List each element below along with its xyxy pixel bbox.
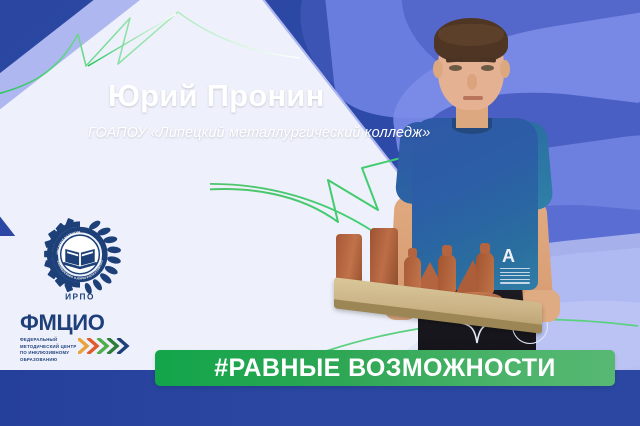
right-eye xyxy=(481,65,494,71)
clay-jug xyxy=(476,252,494,294)
fmcio-logo: ФМЦИО ФЕДЕРАЛЬНЫЙ МЕТОДИЧЕСКИЙ ЦЕНТР ПО … xyxy=(20,312,136,356)
hashtag-banner-text: #РАВНЫЕ ВОЗМОЖНОСТИ xyxy=(214,354,556,383)
hair-fringe xyxy=(438,24,504,46)
fmcio-chevrons-icon xyxy=(78,338,132,354)
clay-jug xyxy=(438,254,456,294)
fmcio-subtitle-line-4: ОБРАЗОВАНИЮ xyxy=(20,357,84,364)
fmcio-subtitle-line-1: ФЕДЕРАЛЬНЫЙ xyxy=(20,337,84,344)
left-eye xyxy=(449,65,462,71)
organization-name: ГОАПОУ «Липецкий металлургический коллед… xyxy=(88,125,430,141)
irpo-logo: ИНСТИТУТ РАЗВИТИЯ ПРОФЕССИОНАЛЬНОГО ОБРА… xyxy=(34,214,126,306)
left-ear xyxy=(433,60,443,78)
person-name: Юрий Пронин xyxy=(108,78,325,114)
fmcio-subtitle-line-3: ПО ИНКЛЮЗИВНОМУ xyxy=(20,350,84,357)
svg-text:ИРПО: ИРПО xyxy=(65,293,95,302)
poster-canvas: A xyxy=(0,0,640,426)
hashtag-banner: #РАВНЫЕ ВОЗМОЖНОСТИ xyxy=(155,350,615,386)
pottery-tray xyxy=(326,232,556,342)
mouth xyxy=(463,96,483,100)
nose xyxy=(467,74,477,90)
right-ear xyxy=(500,60,510,78)
fmcio-subtitle: ФЕДЕРАЛЬНЫЙ МЕТОДИЧЕСКИЙ ЦЕНТР ПО ИНКЛЮЗ… xyxy=(20,337,84,364)
fmcio-subtitle-line-2: МЕТОДИЧЕСКИЙ ЦЕНТР xyxy=(20,344,84,351)
fmcio-acronym: ФМЦИО xyxy=(20,312,136,334)
